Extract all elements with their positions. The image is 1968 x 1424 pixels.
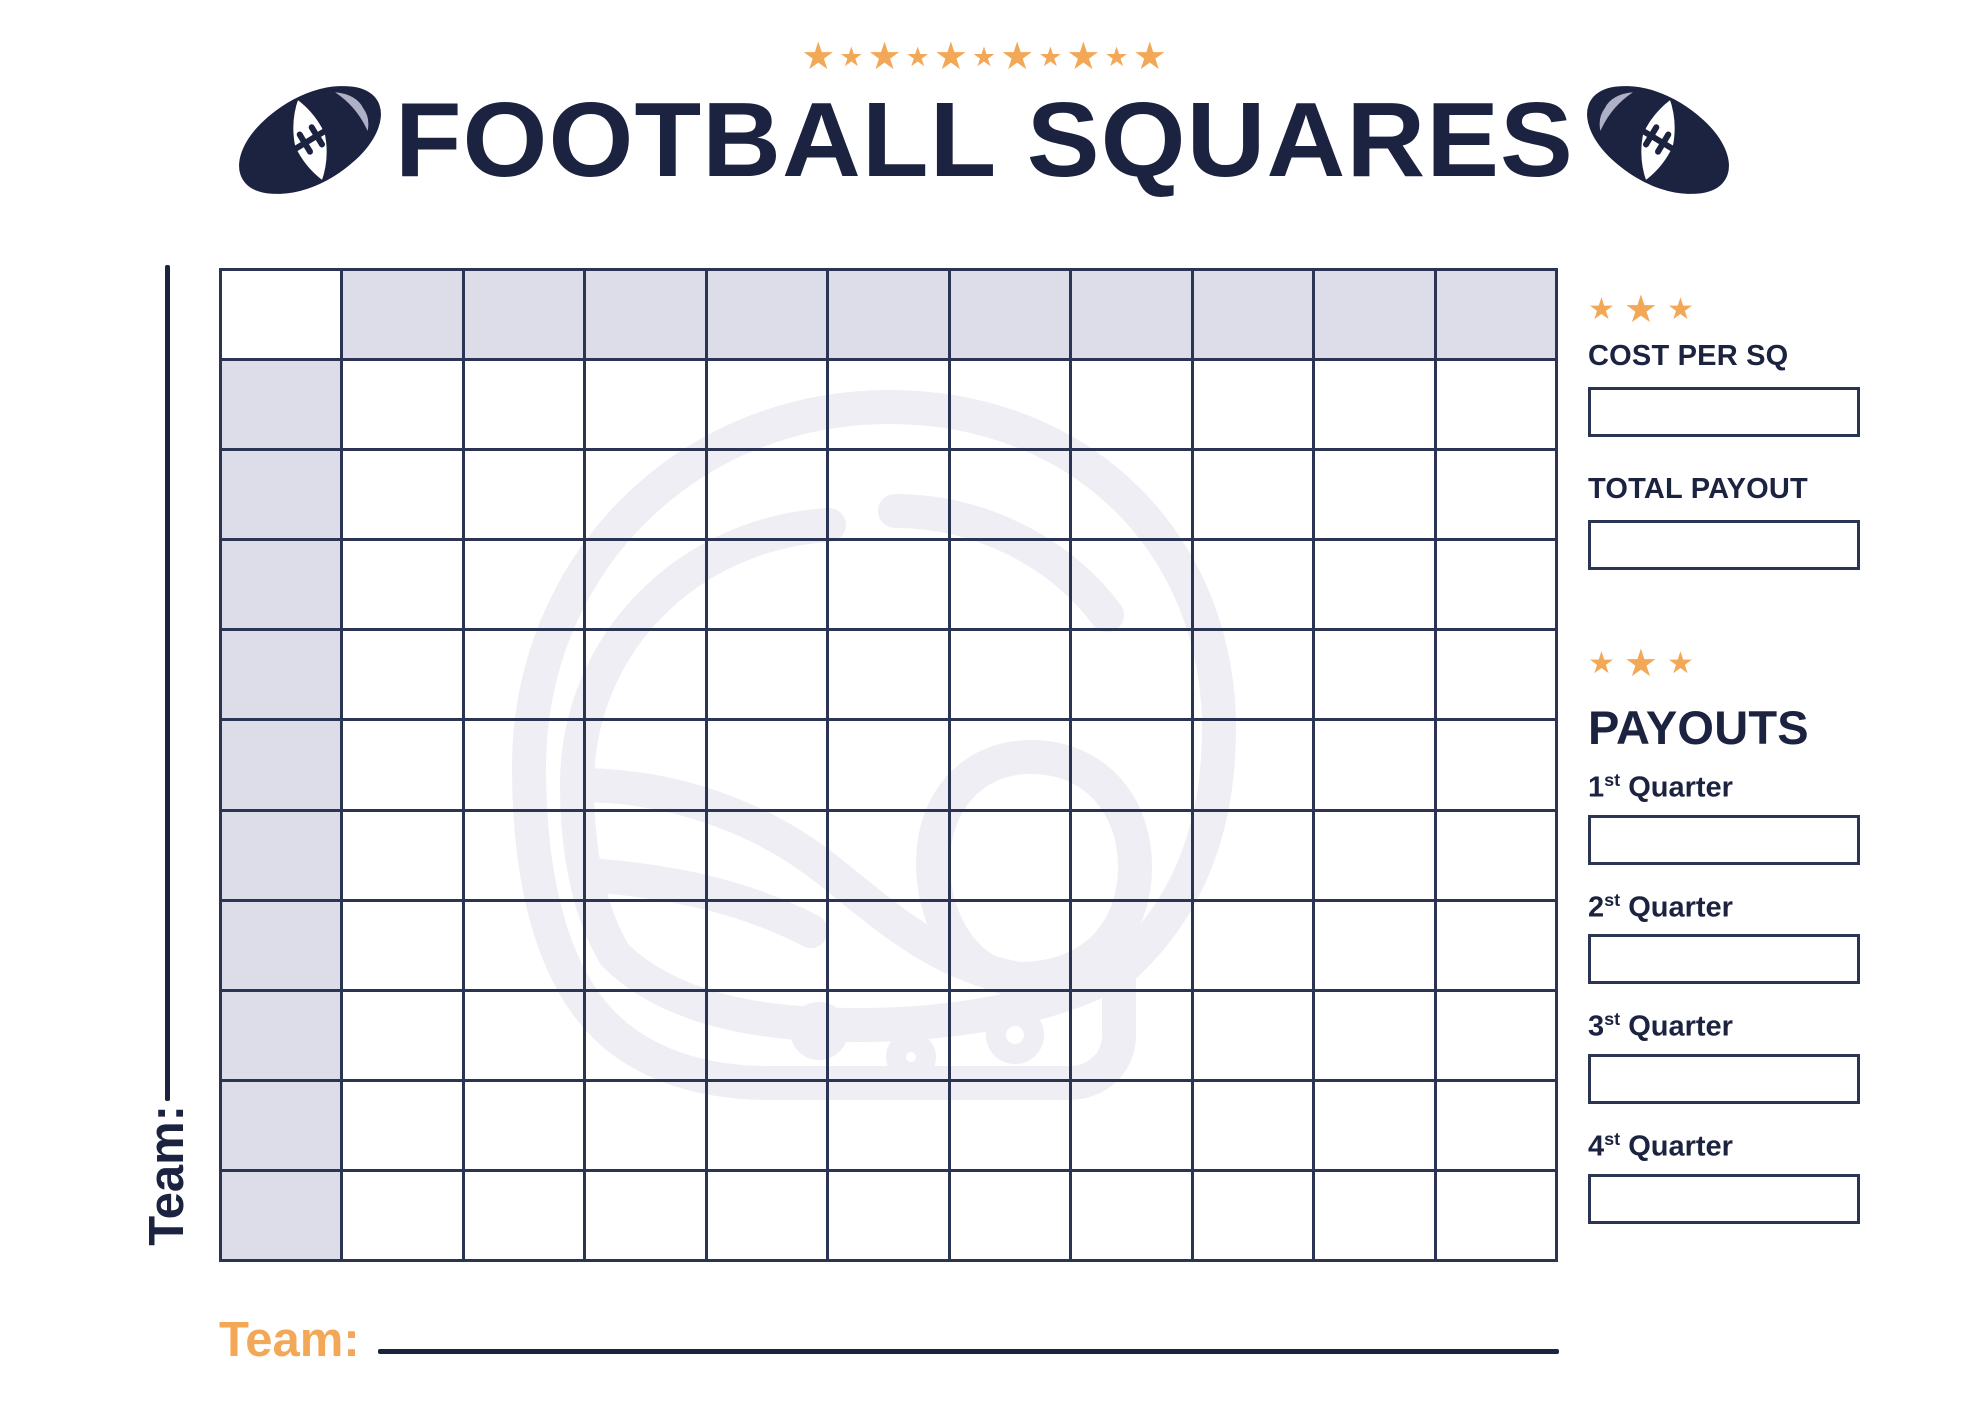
grid-square[interactable] [951, 812, 1072, 902]
grid-column-header-cell[interactable] [343, 271, 464, 361]
grid-column-header-cell[interactable] [708, 271, 829, 361]
grid-square[interactable] [343, 721, 464, 811]
grid-square[interactable] [708, 451, 829, 541]
quarter-3-number: 3 [1588, 1011, 1604, 1043]
grid-square[interactable] [1072, 451, 1193, 541]
grid-square[interactable] [465, 451, 586, 541]
grid-square[interactable] [343, 541, 464, 631]
team-left-field[interactable]: Team: [132, 265, 202, 1262]
grid-square[interactable] [1437, 631, 1558, 721]
grid-square[interactable] [586, 361, 707, 451]
grid-square[interactable] [343, 992, 464, 1082]
grid-square[interactable] [1315, 812, 1436, 902]
grid-column-header-cell[interactable] [951, 271, 1072, 361]
grid-square[interactable] [708, 1172, 829, 1262]
grid-row-header-cell[interactable] [222, 1082, 343, 1172]
grid-square[interactable] [1315, 992, 1436, 1082]
grid-square[interactable] [1315, 361, 1436, 451]
quarter-3-label: 3st Quarter [1588, 1010, 1878, 1042]
quarter-3-ordinal: st [1604, 1009, 1620, 1029]
grid-square[interactable] [1194, 451, 1315, 541]
grid-square[interactable] [1194, 721, 1315, 811]
star-icon: ★ [1667, 295, 1694, 325]
quarter-1-label: 1st Quarter [1588, 771, 1878, 803]
quarter-1-number: 1 [1588, 772, 1604, 804]
star-icon: ★ [1667, 649, 1694, 679]
page-title: FOOTBALL SQUARES [394, 87, 1573, 193]
squares-grid[interactable] [219, 268, 1558, 1262]
grid-square[interactable] [465, 361, 586, 451]
grid-square[interactable] [829, 1082, 950, 1172]
grid-square[interactable] [1437, 992, 1558, 1082]
grid-column-header-cell[interactable] [1194, 271, 1315, 361]
grid-column-header-cell[interactable] [465, 271, 586, 361]
grid-square[interactable] [708, 812, 829, 902]
grid-row-header-cell[interactable] [222, 631, 343, 721]
grid-square[interactable] [586, 451, 707, 541]
grid-square[interactable] [1315, 451, 1436, 541]
grid-square[interactable] [708, 1082, 829, 1172]
grid-square[interactable] [465, 541, 586, 631]
grid-square[interactable] [1072, 1082, 1193, 1172]
grid-square[interactable] [708, 721, 829, 811]
grid-square[interactable] [465, 631, 586, 721]
grid-square[interactable] [586, 992, 707, 1082]
grid-square[interactable] [829, 631, 950, 721]
stars-decoration-top: ★ ★ ★ [1588, 290, 1878, 330]
grid-row-header-cell[interactable] [222, 992, 343, 1082]
grid-square[interactable] [465, 812, 586, 902]
star-icon: ★ [1624, 645, 1658, 683]
grid-square[interactable] [343, 1172, 464, 1262]
grid-row-header-cell[interactable] [222, 361, 343, 451]
grid-square[interactable] [1315, 721, 1436, 811]
quarter-3-word: Quarter [1628, 1011, 1733, 1043]
grid-square[interactable] [586, 1172, 707, 1262]
team-left-write-line[interactable] [165, 265, 170, 1101]
grid-square[interactable] [586, 1082, 707, 1172]
grid-square[interactable] [1072, 812, 1193, 902]
title-row: FOOTBALL SQUARES [0, 60, 1968, 220]
grid-corner-cell [222, 271, 343, 361]
grid-square[interactable] [951, 361, 1072, 451]
team-bottom-field[interactable]: Team: [219, 1300, 1559, 1380]
grid-square[interactable] [1437, 451, 1558, 541]
grid-square[interactable] [951, 1172, 1072, 1262]
quarter-4-label: 4st Quarter [1588, 1130, 1878, 1162]
quarter-3-input[interactable] [1588, 1054, 1860, 1104]
star-icon: ★ [1588, 295, 1615, 325]
grid-square[interactable] [586, 541, 707, 631]
grid-square[interactable] [1194, 1082, 1315, 1172]
grid-square[interactable] [829, 1172, 950, 1262]
grid-square[interactable] [1437, 541, 1558, 631]
quarter-2-ordinal: st [1604, 890, 1620, 910]
side-panel: ★ ★ ★ COST PER SQ TOTAL PAYOUT ★ ★ ★ PAY… [1588, 290, 1878, 1270]
grid-column-header-cell[interactable] [586, 271, 707, 361]
grid-row-header-cell[interactable] [222, 1172, 343, 1262]
grid-square[interactable] [951, 451, 1072, 541]
quarter-2-word: Quarter [1628, 891, 1733, 923]
grid-square[interactable] [1072, 1172, 1193, 1262]
grid-column-header-cell[interactable] [1072, 271, 1193, 361]
quarter-2-number: 2 [1588, 891, 1604, 923]
grid-square[interactable] [586, 721, 707, 811]
quarter-4-number: 4 [1588, 1131, 1604, 1163]
quarter-4-input[interactable] [1588, 1174, 1860, 1224]
grid-square[interactable] [708, 541, 829, 631]
grid-square[interactable] [465, 1172, 586, 1262]
grid-square[interactable] [951, 902, 1072, 992]
grid-square[interactable] [829, 541, 950, 631]
team-left-label: Team: [143, 1101, 192, 1262]
grid-square[interactable] [829, 721, 950, 811]
cost-per-sq-input[interactable] [1588, 387, 1860, 437]
grid-square[interactable] [465, 1082, 586, 1172]
grid-square[interactable] [829, 902, 950, 992]
grid-square[interactable] [1194, 812, 1315, 902]
grid-square[interactable] [343, 902, 464, 992]
grid-square[interactable] [465, 992, 586, 1082]
cost-per-sq-label: COST PER SQ [1588, 342, 1878, 371]
grid-square[interactable] [1437, 361, 1558, 451]
grid-square[interactable] [829, 812, 950, 902]
quarter-2-label: 2st Quarter [1588, 891, 1878, 923]
grid-square[interactable] [829, 992, 950, 1082]
grid-square[interactable] [1437, 1082, 1558, 1172]
grid-square[interactable] [708, 902, 829, 992]
grid-square[interactable] [1072, 902, 1193, 992]
grid-square[interactable] [586, 812, 707, 902]
grid-column-header-cell[interactable] [1315, 271, 1436, 361]
grid-square[interactable] [1315, 631, 1436, 721]
star-icon: ★ [1588, 649, 1615, 679]
quarter-1-input[interactable] [1588, 815, 1860, 865]
grid-square[interactable] [343, 812, 464, 902]
grid-square[interactable] [1194, 902, 1315, 992]
quarter-1-ordinal: st [1604, 770, 1620, 790]
grid-row-header-cell[interactable] [222, 902, 343, 992]
grid-square[interactable] [1194, 1172, 1315, 1262]
grid-square[interactable] [465, 902, 586, 992]
quarter-2-input[interactable] [1588, 934, 1860, 984]
grid-square[interactable] [1194, 992, 1315, 1082]
grid-square[interactable] [1072, 721, 1193, 811]
grid-square[interactable] [951, 631, 1072, 721]
quarter-1-word: Quarter [1628, 772, 1733, 804]
grid-square[interactable] [951, 721, 1072, 811]
stars-decoration-mid: ★ ★ ★ [1588, 644, 1878, 684]
grid-square[interactable] [343, 451, 464, 541]
grid-square[interactable] [1315, 902, 1436, 992]
grid-square[interactable] [708, 361, 829, 451]
grid-square[interactable] [829, 361, 950, 451]
team-bottom-write-line[interactable] [378, 1349, 1559, 1354]
football-icon [230, 75, 390, 205]
grid-square[interactable] [1072, 631, 1193, 721]
grid-square[interactable] [951, 541, 1072, 631]
grid-square[interactable] [1194, 361, 1315, 451]
grid-square[interactable] [343, 1082, 464, 1172]
grid-square[interactable] [829, 451, 950, 541]
grid-column-header-cell[interactable] [1437, 271, 1558, 361]
grid-row-header-cell[interactable] [222, 721, 343, 811]
quarter-4-ordinal: st [1604, 1129, 1620, 1149]
grid-square[interactable] [343, 631, 464, 721]
grid-square[interactable] [708, 631, 829, 721]
grid-square[interactable] [1315, 541, 1436, 631]
grid-square[interactable] [1072, 541, 1193, 631]
total-payout-label: TOTAL PAYOUT [1588, 475, 1878, 504]
grid-square[interactable] [1437, 902, 1558, 992]
football-icon [1578, 75, 1738, 205]
grid-square[interactable] [1437, 721, 1558, 811]
football-squares-page: ★ ★ ★ ★ ★ ★ ★ ★ ★ ★ ★ [0, 0, 1968, 1424]
star-icon: ★ [1624, 291, 1658, 329]
team-bottom-label: Team: [219, 1316, 360, 1365]
grid-square[interactable] [1315, 1082, 1436, 1172]
grid-square[interactable] [1315, 1172, 1436, 1262]
grid-square[interactable] [1437, 1172, 1558, 1262]
grid-square[interactable] [951, 992, 1072, 1082]
grid-square[interactable] [708, 992, 829, 1082]
grid-row-header-cell[interactable] [222, 541, 343, 631]
grid-square[interactable] [951, 1082, 1072, 1172]
grid-square[interactable] [1437, 812, 1558, 902]
total-payout-input[interactable] [1588, 520, 1860, 570]
grid-square[interactable] [1072, 361, 1193, 451]
squares-grid-wrapper [219, 268, 1558, 1262]
grid-square[interactable] [465, 721, 586, 811]
grid-square[interactable] [1072, 992, 1193, 1082]
grid-row-header-cell[interactable] [222, 812, 343, 902]
grid-square[interactable] [1194, 541, 1315, 631]
grid-square[interactable] [586, 631, 707, 721]
payouts-heading: PAYOUTS [1588, 704, 1878, 751]
grid-row-header-cell[interactable] [222, 451, 343, 541]
quarter-4-word: Quarter [1628, 1131, 1733, 1163]
grid-square[interactable] [343, 361, 464, 451]
grid-square[interactable] [1194, 631, 1315, 721]
grid-column-header-cell[interactable] [829, 271, 950, 361]
grid-square[interactable] [586, 902, 707, 992]
